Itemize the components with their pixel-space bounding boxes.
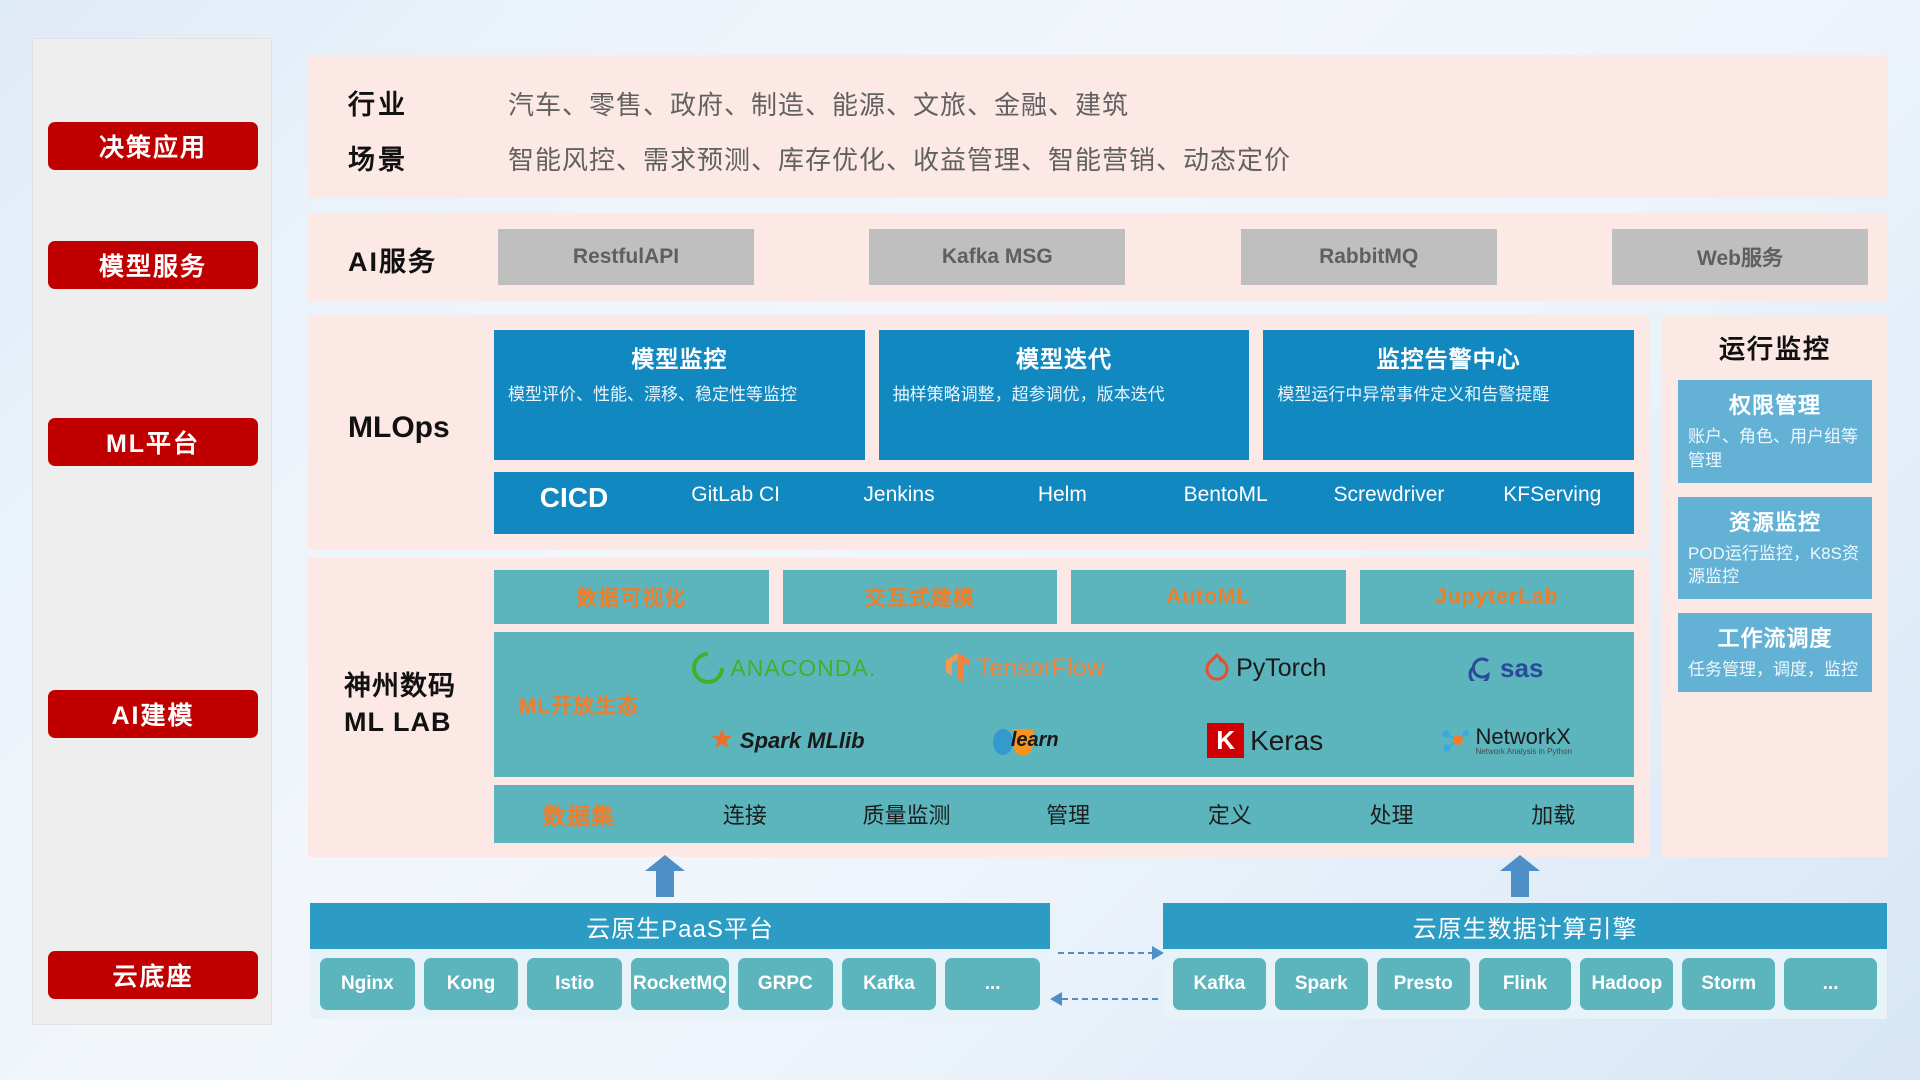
ml-lab-label-line1: 神州数码 <box>344 671 456 701</box>
cicd-item-jenkins[interactable]: Jenkins <box>817 482 980 508</box>
card-title: 模型迭代 <box>893 340 1236 374</box>
sas-swirl-icon <box>1468 655 1494 681</box>
rail-tag-label: 云底座 <box>112 957 193 993</box>
industry-scenario-band: 行业 汽车、零售、政府、制造、能源、文旅、金融、建筑 场景 智能风控、需求预测、… <box>308 55 1888 198</box>
pytorch-logo: PyTorch <box>1204 653 1326 683</box>
rail-tag-ml-platform[interactable]: ML平台 <box>48 418 258 466</box>
cicd-item-kfserving[interactable]: KFServing <box>1471 482 1634 508</box>
connector-dash-top <box>1058 952 1154 954</box>
mlops-card-alert-center[interactable]: 监控告警中心 模型运行中异常事件定义和告警提醒 <box>1263 330 1634 460</box>
data-engine-chip-kafka[interactable]: Kafka <box>1173 958 1266 1010</box>
paas-platform: 云原生PaaS平台 Nginx Kong Istio RocketMQ GRPC… <box>310 903 1050 1019</box>
ml-ecosystem-label: ML开放生态 <box>494 632 664 777</box>
rail-tag-label: 模型服务 <box>99 247 207 283</box>
dataset-item-load[interactable]: 加载 <box>1472 798 1634 830</box>
ml-lab-chip-automl[interactable]: AutoML <box>1071 570 1346 624</box>
data-engine-title: 云原生数据计算引擎 <box>1163 903 1887 949</box>
dataset-item-define[interactable]: 定义 <box>1149 798 1311 830</box>
tensorflow-logo: TensorFlow <box>945 652 1105 684</box>
networkx-logo: NetworkX Network Analysis in Python <box>1440 725 1573 756</box>
data-engine-chip-hadoop[interactable]: Hadoop <box>1580 958 1673 1010</box>
mlops-card-model-monitoring[interactable]: 模型监控 模型评价、性能、漂移、稳定性等监控 <box>494 330 865 460</box>
ml-lab-chip-interactive-modeling[interactable]: 交互式建模 <box>783 570 1058 624</box>
data-engine-chip-spark[interactable]: Spark <box>1275 958 1368 1010</box>
pytorch-flame-icon <box>1204 653 1230 683</box>
runtime-card-resource-monitoring[interactable]: 资源监控 POD运行监控，K8S资源监控 <box>1678 497 1872 600</box>
sas-logo: sas <box>1468 653 1543 684</box>
card-title: 模型监控 <box>508 340 851 374</box>
cicd-label: CICD <box>494 482 654 514</box>
data-engine-chip-flink[interactable]: Flink <box>1479 958 1572 1010</box>
sas-logo-text: sas <box>1500 653 1543 684</box>
networkx-text-block: NetworkX Network Analysis in Python <box>1476 725 1573 756</box>
cicd-item-helm[interactable]: Helm <box>981 482 1144 508</box>
ai-service-label: AI服务 <box>348 240 437 279</box>
ai-service-chip-rabbitmq[interactable]: RabbitMQ <box>1241 229 1497 285</box>
rail-tag-decision-application[interactable]: 决策应用 <box>48 122 258 170</box>
rail-tag-cloud-foundation[interactable]: 云底座 <box>48 951 258 999</box>
ai-service-list: RestfulAPI Kafka MSG RabbitMQ Web服务 <box>498 229 1868 285</box>
cicd-item-bentoml[interactable]: BentoML <box>1144 482 1307 508</box>
dataset-item-process[interactable]: 处理 <box>1311 798 1473 830</box>
architecture-diagram: 决策应用 模型服务 ML平台 AI建模 云底座 行业 汽车、零售、政府、制造、能… <box>0 0 1920 1080</box>
mlops-card-model-iteration[interactable]: 模型迭代 抽样策略调整，超参调优，版本迭代 <box>879 330 1250 460</box>
ml-lab-label: 神州数码 ML LAB <box>344 668 456 741</box>
ml-ecosystem-panel: ML开放生态 ANACONDA. TensorFlow <box>494 632 1634 777</box>
tensorflow-mark-icon <box>945 652 971 684</box>
dataset-item-quality-monitoring[interactable]: 质量监测 <box>826 798 988 830</box>
data-engine-chip-list: Kafka Spark Presto Flink Hadoop Storm ..… <box>1163 949 1887 1019</box>
tensorflow-logo-text: TensorFlow <box>977 654 1105 683</box>
data-engine-up-arrow-icon <box>1500 855 1540 897</box>
dataset-item-connect[interactable]: 连接 <box>664 798 826 830</box>
ml-lab-chip-data-visualization[interactable]: 数据可视化 <box>494 570 769 624</box>
data-engine-chip-presto[interactable]: Presto <box>1377 958 1470 1010</box>
spark-star-icon <box>704 728 734 754</box>
card-title: 工作流调度 <box>1688 621 1862 653</box>
runtime-card-workflow-scheduling[interactable]: 工作流调度 任务管理，调度，监控 <box>1678 613 1872 692</box>
ai-service-chip-kafka-msg[interactable]: Kafka MSG <box>869 229 1125 285</box>
anaconda-logo: ANACONDA. <box>692 652 876 684</box>
ml-lab-label-line2: ML LAB <box>344 707 452 737</box>
paas-chip-list: Nginx Kong Istio RocketMQ GRPC Kafka ... <box>310 949 1050 1019</box>
dataset-row: 数据集 连接 质量监测 管理 定义 处理 加载 <box>494 785 1634 843</box>
runtime-card-permission-management[interactable]: 权限管理 账户、角色、用户组等管理 <box>1678 380 1872 483</box>
dataset-item-manage[interactable]: 管理 <box>987 798 1149 830</box>
ml-lab-chip-list: 数据可视化 交互式建模 AutoML JupyterLab <box>494 570 1634 624</box>
scikit-learn-logo: learn <box>991 724 1059 758</box>
mlops-band: MLOps 模型监控 模型评价、性能、漂移、稳定性等监控 模型迭代 抽样策略调整… <box>308 315 1650 550</box>
rail-tag-label: AI建模 <box>111 696 194 732</box>
rail-tag-model-service[interactable]: 模型服务 <box>48 241 258 289</box>
rail-tag-label: ML平台 <box>106 424 200 460</box>
keras-logo: K Keras <box>1207 723 1323 758</box>
anaconda-logo-text: ANACONDA. <box>730 655 876 682</box>
runtime-monitoring-rail: 运行监控 权限管理 账户、角色、用户组等管理 资源监控 POD运行监控，K8S资… <box>1662 315 1888 857</box>
card-title: 权限管理 <box>1688 388 1862 420</box>
scenario-label: 场景 <box>348 138 408 177</box>
spark-mllib-logo: Spark MLlib <box>704 728 865 754</box>
scenario-values: 智能风控、需求预测、库存优化、收益管理、智能营销、动态定价 <box>508 140 1291 177</box>
data-engine-chip-more[interactable]: ... <box>1784 958 1877 1010</box>
ai-service-chip-web-service[interactable]: Web服务 <box>1612 229 1868 285</box>
cicd-row: CICD GitLab CI Jenkins Helm BentoML Scre… <box>494 472 1634 534</box>
card-title: 资源监控 <box>1688 505 1862 537</box>
cicd-item-screwdriver[interactable]: Screwdriver <box>1307 482 1470 508</box>
card-title: 监控告警中心 <box>1277 340 1620 374</box>
rail-tag-ai-modeling[interactable]: AI建模 <box>48 690 258 738</box>
card-desc: 模型运行中异常事件定义和告警提醒 <box>1277 383 1620 408</box>
networkx-graph-icon <box>1440 727 1470 755</box>
paas-chip-grpc[interactable]: GRPC <box>738 958 833 1010</box>
card-desc: 账户、角色、用户组等管理 <box>1688 425 1862 473</box>
keras-logo-text: Keras <box>1250 725 1323 757</box>
ai-service-band: AI服务 RestfulAPI Kafka MSG RabbitMQ Web服务 <box>308 213 1888 301</box>
data-engine-chip-storm[interactable]: Storm <box>1682 958 1775 1010</box>
paas-chip-kafka[interactable]: Kafka <box>842 958 937 1010</box>
industry-values: 汽车、零售、政府、制造、能源、文旅、金融、建筑 <box>508 85 1129 122</box>
paas-chip-nginx[interactable]: Nginx <box>320 958 415 1010</box>
cicd-item-gitlab-ci[interactable]: GitLab CI <box>654 482 817 508</box>
dataset-label: 数据集 <box>494 797 664 831</box>
connector-dash-bottom <box>1062 998 1158 1000</box>
ml-lab-chip-jupyterlab[interactable]: JupyterLab <box>1360 570 1635 624</box>
pytorch-logo-text: PyTorch <box>1236 654 1326 683</box>
card-desc: 抽样策略调整，超参调优，版本迭代 <box>893 383 1236 408</box>
scikit-learn-logo-text: learn <box>1011 729 1059 752</box>
paas-chip-kong[interactable]: Kong <box>424 958 519 1010</box>
connector-arrow-right-icon <box>1152 946 1164 960</box>
networkx-tagline: Network Analysis in Python <box>1476 748 1573 756</box>
runtime-monitoring-title: 运行监控 <box>1662 315 1888 366</box>
anaconda-ring-icon <box>686 646 731 691</box>
mlops-label: MLOps <box>348 411 450 445</box>
ml-ecosystem-logo-grid: ANACONDA. TensorFlow PyTorch <box>664 632 1634 777</box>
paas-chip-more[interactable]: ... <box>945 958 1040 1010</box>
paas-chip-rocketmq[interactable]: RocketMQ <box>631 958 729 1010</box>
data-engine-platform: 云原生数据计算引擎 Kafka Spark Presto Flink Hadoo… <box>1163 903 1887 1019</box>
paas-chip-istio[interactable]: Istio <box>527 958 622 1010</box>
paas-platform-title: 云原生PaaS平台 <box>310 903 1050 949</box>
card-desc: 任务管理，调度，监控 <box>1688 658 1862 682</box>
ai-service-chip-restfulapi[interactable]: RestfulAPI <box>498 229 754 285</box>
rail-tag-label: 决策应用 <box>99 128 207 164</box>
card-desc: POD运行监控，K8S资源监控 <box>1688 542 1862 590</box>
paas-up-arrow-icon <box>645 855 685 897</box>
card-desc: 模型评价、性能、漂移、稳定性等监控 <box>508 383 851 408</box>
left-rail <box>32 38 272 1025</box>
industry-label: 行业 <box>348 83 408 122</box>
spark-mllib-logo-text: Spark MLlib <box>740 728 865 754</box>
connector-arrow-left-icon <box>1050 992 1062 1006</box>
mlops-card-list: 模型监控 模型评价、性能、漂移、稳定性等监控 模型迭代 抽样策略调整，超参调优，… <box>494 330 1634 460</box>
networkx-logo-text: NetworkX <box>1476 725 1573 748</box>
keras-k-icon: K <box>1207 723 1244 758</box>
ml-lab-band: 神州数码 ML LAB 数据可视化 交互式建模 AutoML JupyterLa… <box>308 558 1650 857</box>
